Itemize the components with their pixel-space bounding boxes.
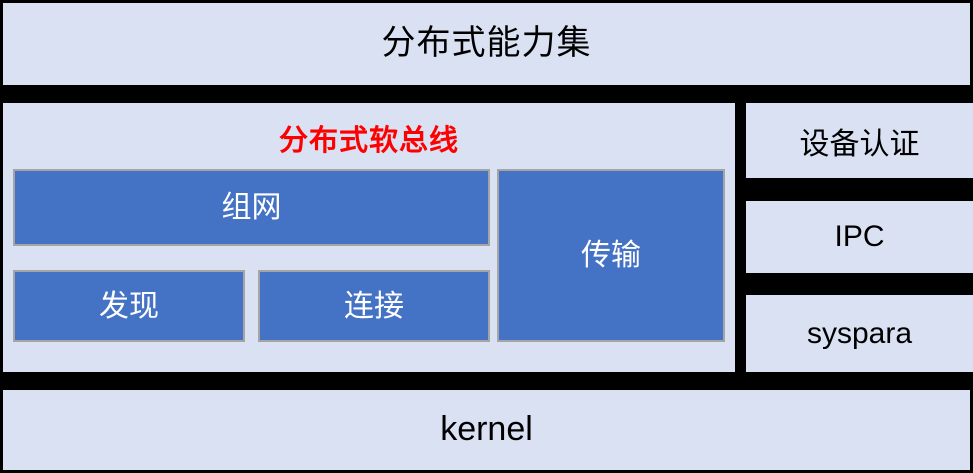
architecture-diagram: 分布式能力集 分布式软总线 组网 发现 连接 传输 设备认证 IPC syspa… (0, 0, 973, 473)
module-discovery[interactable]: 发现 (13, 270, 245, 342)
service-syspara[interactable]: syspara (746, 295, 973, 372)
module-networking[interactable]: 组网 (13, 169, 490, 246)
module-discovery-label: 发现 (99, 290, 159, 323)
service-device-auth-label: 设备认证 (800, 119, 920, 163)
capability-set-band: 分布式能力集 (3, 3, 970, 85)
module-transport[interactable]: 传输 (497, 169, 725, 342)
module-transport-label: 传输 (581, 239, 641, 272)
service-device-auth[interactable]: 设备认证 (746, 103, 973, 178)
service-ipc-label: IPC (834, 220, 884, 254)
soft-bus-title: 分布式软总线 (3, 117, 735, 159)
module-networking-label: 组网 (222, 191, 282, 224)
module-connection[interactable]: 连接 (258, 270, 490, 342)
capability-set-label: 分布式能力集 (382, 25, 592, 62)
service-ipc[interactable]: IPC (746, 201, 973, 273)
soft-bus-panel: 分布式软总线 组网 发现 连接 传输 (3, 103, 735, 372)
kernel-label: kernel (440, 411, 533, 448)
kernel-band: kernel (3, 390, 970, 470)
service-syspara-label: syspara (807, 317, 912, 351)
module-connection-label: 连接 (344, 290, 404, 323)
